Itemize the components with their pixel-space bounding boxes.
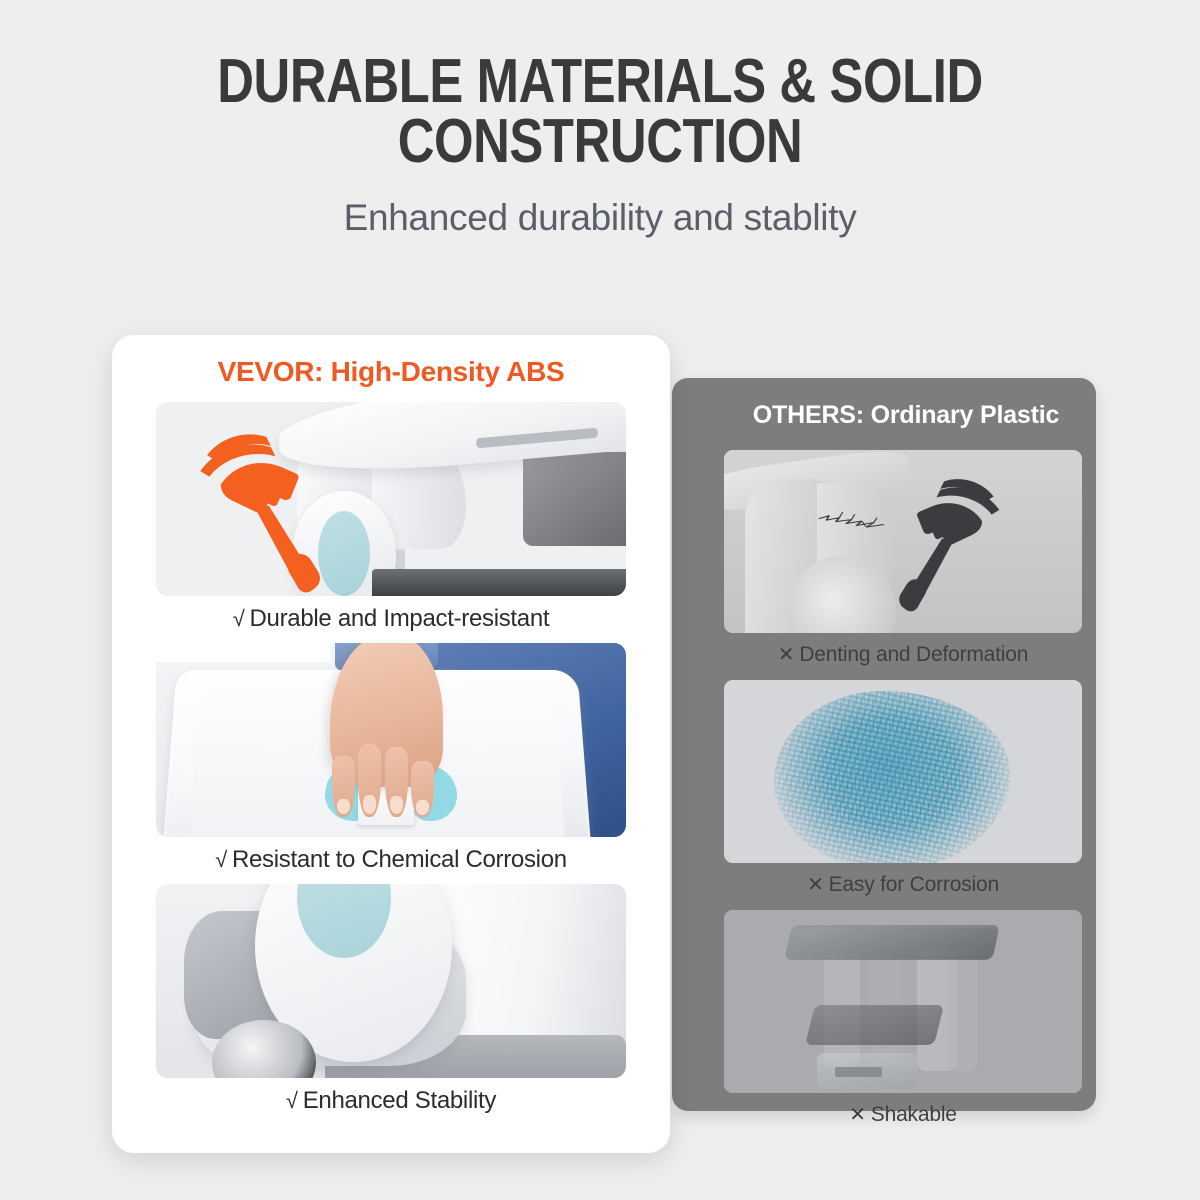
others-caption-text: Shakable bbox=[871, 1103, 957, 1126]
vevor-item-durable: √Durable and Impact-resistant bbox=[156, 402, 626, 643]
check-icon: √ bbox=[233, 606, 245, 631]
cross-icon: ✕ bbox=[778, 644, 795, 666]
vevor-item-corrosion: √Resistant to Chemical Corrosion bbox=[156, 643, 626, 884]
comparison-stage: OTHERS: Ordinary Plastic bbox=[0, 0, 1200, 1200]
vevor-caption-text: Enhanced Stability bbox=[303, 1087, 496, 1114]
others-caption-corrosion: ✕Easy for Corrosion bbox=[724, 863, 1082, 904]
finger bbox=[385, 747, 408, 817]
cart-tray bbox=[805, 1005, 944, 1045]
fingernail bbox=[390, 796, 403, 814]
others-panel: OTHERS: Ordinary Plastic bbox=[672, 378, 1096, 1111]
others-image-shakable bbox=[724, 910, 1082, 1093]
others-image-denting bbox=[724, 450, 1082, 633]
finger bbox=[358, 744, 381, 817]
cart-top bbox=[785, 925, 1000, 960]
finger bbox=[411, 761, 434, 817]
fingernail bbox=[363, 795, 376, 814]
others-caption-text: Easy for Corrosion bbox=[829, 873, 999, 896]
others-caption-denting: ✕Denting and Deformation bbox=[724, 633, 1082, 674]
check-icon: √ bbox=[286, 1088, 298, 1113]
fingernail bbox=[416, 800, 429, 815]
vevor-panel: VEVOR: High-Density ABS bbox=[112, 335, 670, 1153]
vevor-tile-list: √Durable and Impact-resistant bbox=[112, 388, 670, 1125]
hammer-icon bbox=[175, 421, 335, 592]
hand-wiping-icon bbox=[330, 643, 443, 787]
hammer-icon bbox=[882, 468, 1025, 611]
dark-panel-shape bbox=[523, 452, 626, 545]
vevor-panel-header: VEVOR: High-Density ABS bbox=[112, 335, 670, 388]
vevor-image-stability bbox=[156, 884, 626, 1078]
others-caption-text: Denting and Deformation bbox=[799, 643, 1028, 666]
others-caption-shakable: ✕Shakable bbox=[724, 1093, 1082, 1134]
cross-icon: ✕ bbox=[807, 874, 824, 896]
others-item-corrosion: ✕Easy for Corrosion bbox=[724, 680, 1082, 904]
vevor-caption-text: Resistant to Chemical Corrosion bbox=[232, 846, 567, 873]
unstable-cart-icon bbox=[724, 910, 1082, 1093]
others-item-shakable: ✕Shakable bbox=[724, 910, 1082, 1134]
others-item-denting: ✕Denting and Deformation bbox=[724, 450, 1082, 674]
vevor-caption-stability: √Enhanced Stability bbox=[156, 1078, 626, 1125]
others-panel-header: OTHERS: Ordinary Plastic bbox=[672, 378, 1096, 430]
others-tile-list: ✕Denting and Deformation ✕Easy for Corro… bbox=[672, 430, 1096, 1134]
dark-bar-shape bbox=[372, 569, 626, 596]
vevor-image-corrosion bbox=[156, 643, 626, 837]
cross-icon: ✕ bbox=[849, 1104, 866, 1126]
vevor-image-durable bbox=[156, 402, 626, 596]
vevor-caption-durable: √Durable and Impact-resistant bbox=[156, 596, 626, 643]
others-image-corrosion bbox=[724, 680, 1082, 863]
cart-leg bbox=[946, 950, 978, 1071]
vevor-caption-corrosion: √Resistant to Chemical Corrosion bbox=[156, 837, 626, 884]
corrosion-stain-icon bbox=[774, 691, 1010, 863]
check-icon: √ bbox=[215, 847, 227, 872]
cart-drawer-handle bbox=[835, 1067, 882, 1076]
fingernail bbox=[337, 799, 350, 815]
vevor-caption-text: Durable and Impact-resistant bbox=[250, 605, 550, 632]
vevor-item-stability: √Enhanced Stability bbox=[156, 884, 626, 1125]
finger bbox=[332, 756, 355, 817]
background-left bbox=[156, 643, 330, 662]
